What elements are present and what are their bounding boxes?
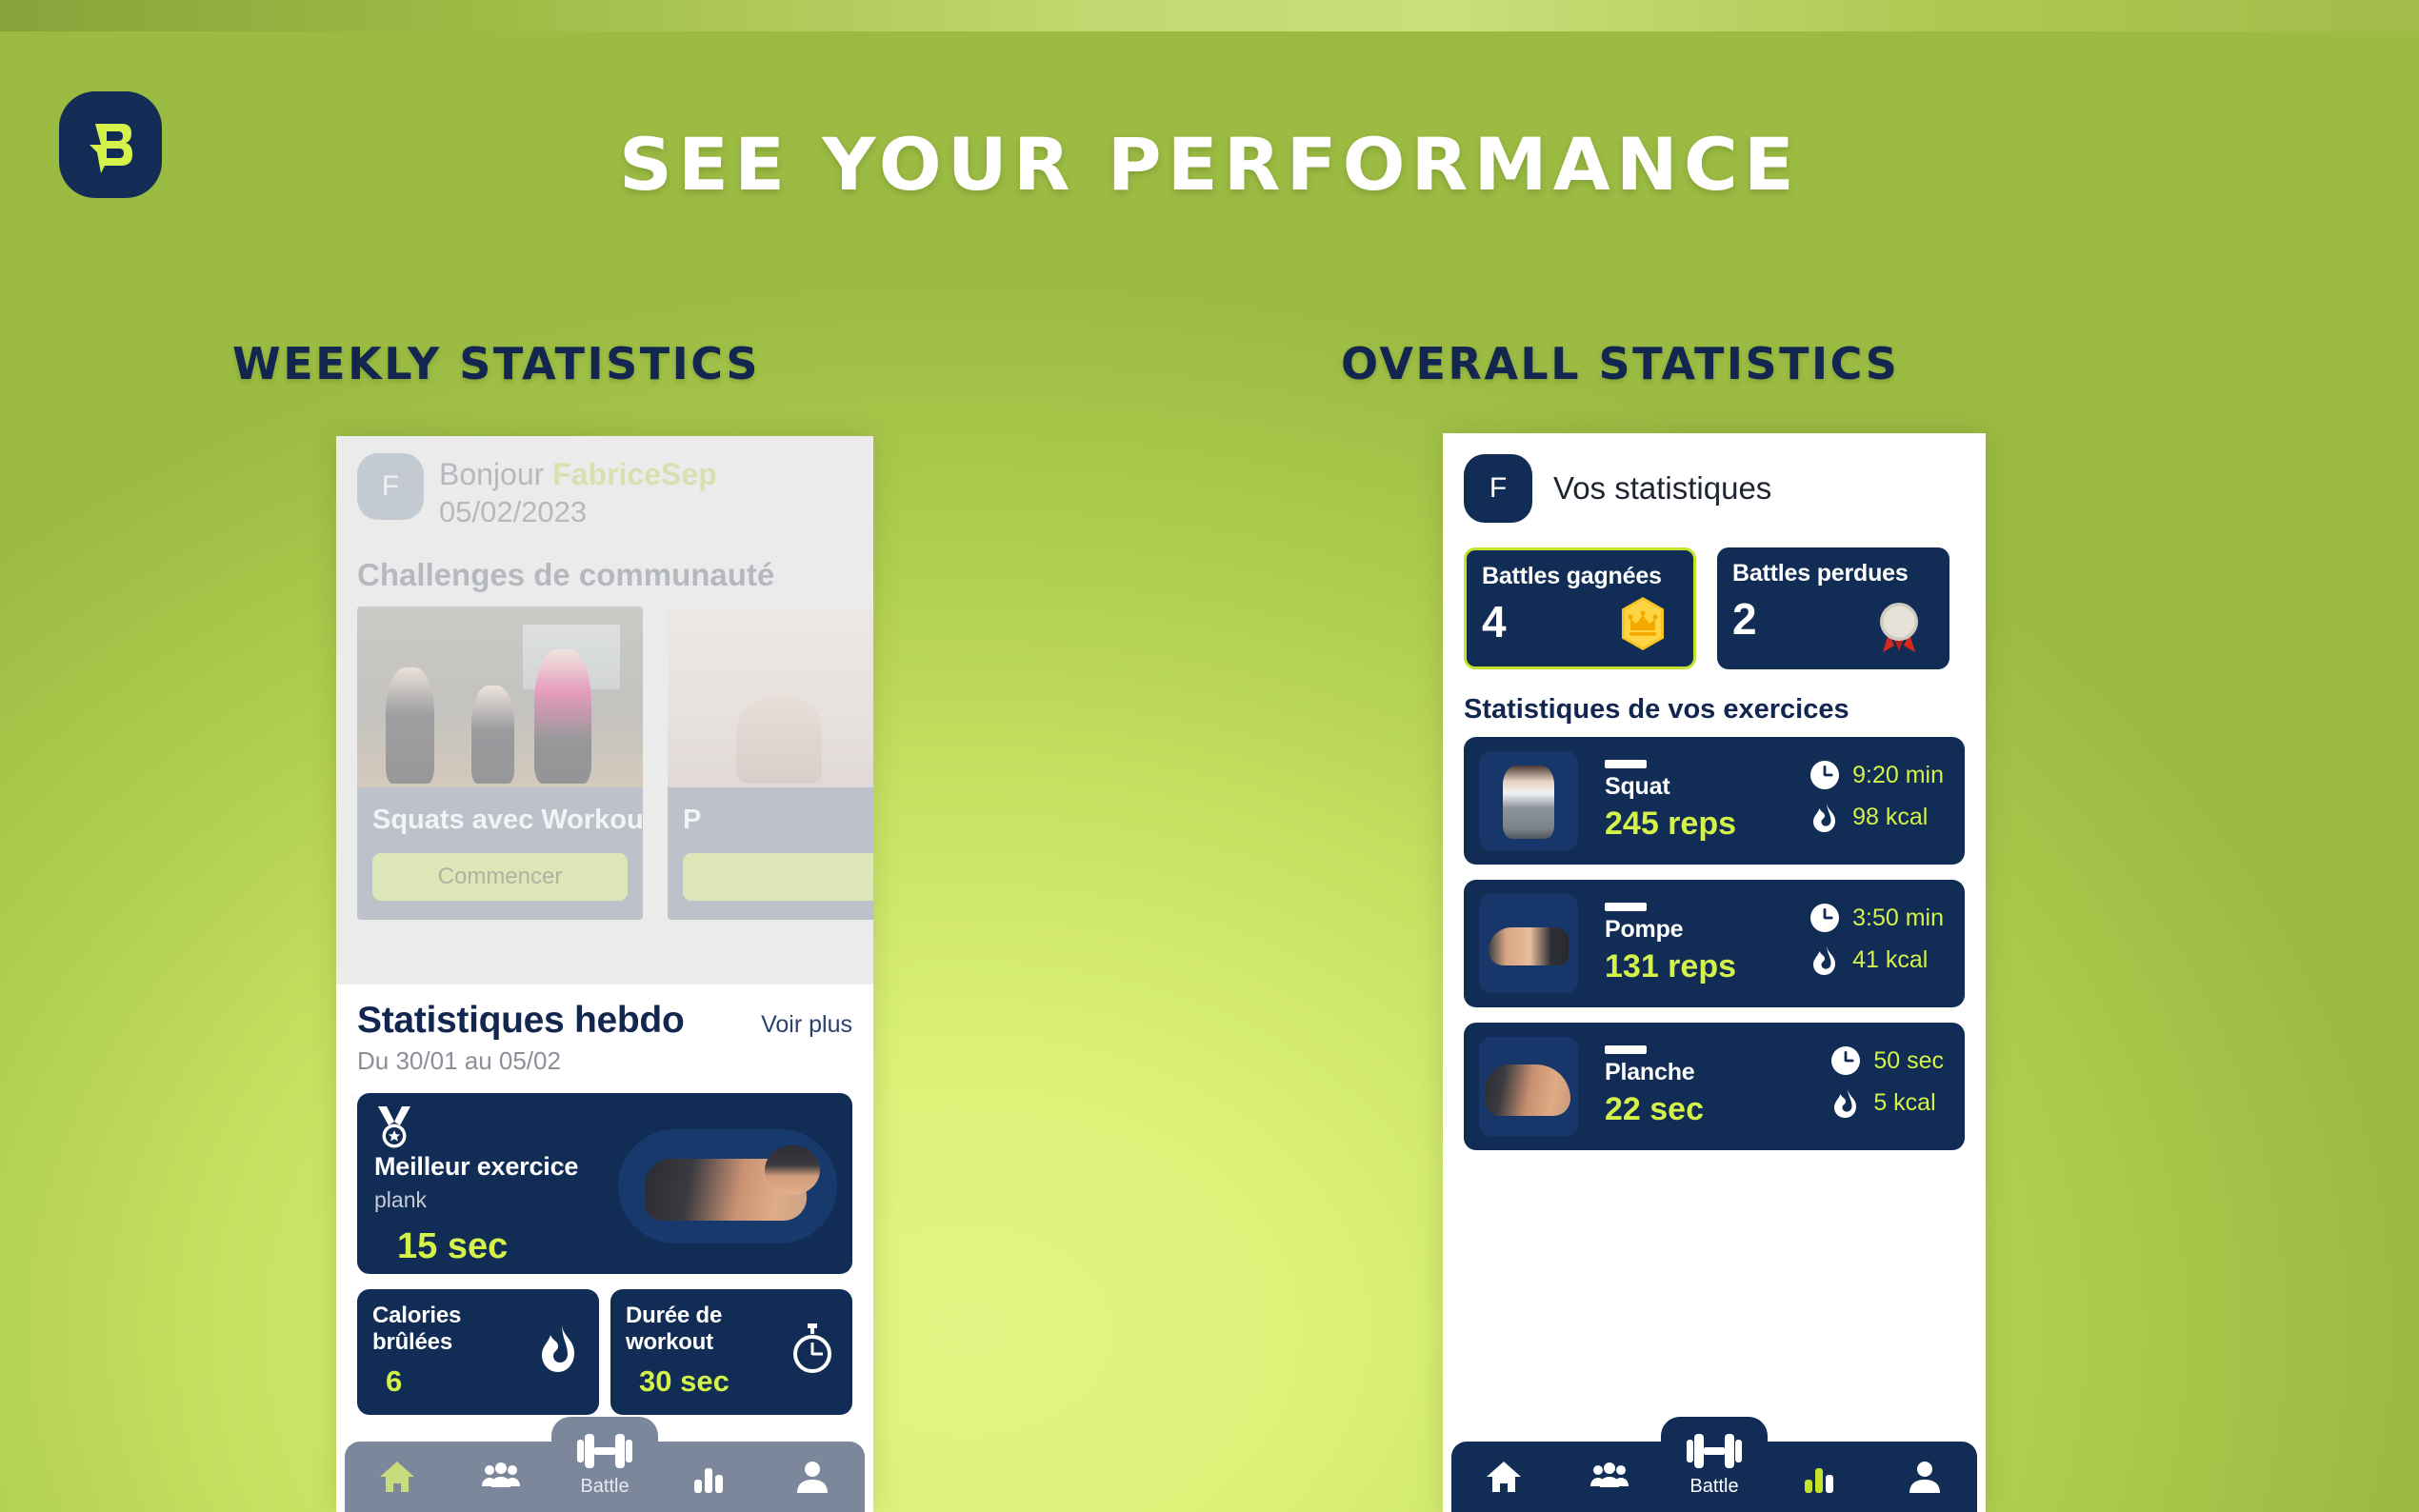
overall-statistics-phone: F Vos statistiques Battles gagnées 4: [1443, 433, 1986, 1512]
challenge-card[interactable]: Squats avec WorkoutBattle Commencer: [357, 607, 643, 920]
bar-chart-icon: [689, 1457, 729, 1497]
squat-thumbnail: [1479, 751, 1578, 850]
home-icon: [1484, 1457, 1524, 1497]
section-heading-weekly: WEEKLY STATISTICS: [232, 338, 760, 389]
top-color-band: [0, 0, 2419, 31]
see-more-link[interactable]: Voir plus: [761, 1011, 852, 1039]
battles-won-card[interactable]: Battles gagnées 4: [1464, 547, 1696, 669]
silver-medal-icon: [1869, 597, 1929, 656]
dumbbell-icon: [1685, 1430, 1744, 1472]
flame-icon: [1829, 1086, 1862, 1119]
exercise-calories: 5 kcal: [1873, 1089, 1935, 1117]
home-icon: [377, 1457, 417, 1497]
bottom-navigation[interactable]: Battle: [336, 1434, 873, 1512]
battles-lost-label: Battles perdues: [1732, 560, 1934, 587]
nav-battle-button[interactable]: Battle: [1661, 1417, 1768, 1512]
nav-home[interactable]: [1451, 1442, 1556, 1512]
challenge-photo: [668, 607, 873, 787]
nav-home[interactable]: [345, 1442, 449, 1512]
workout-duration-card[interactable]: Durée deworkout 30 sec: [610, 1289, 852, 1415]
nav-profile[interactable]: [1872, 1442, 1977, 1512]
nav-stats[interactable]: [657, 1442, 761, 1512]
exercise-row[interactable]: Squat 245 reps 9:20 min 98 kcal: [1464, 737, 1965, 865]
calories-label-line2: brûlées: [372, 1329, 452, 1355]
clock-icon: [1809, 902, 1841, 934]
nav-battle-button[interactable]: Battle: [551, 1417, 658, 1512]
person-icon: [1905, 1457, 1945, 1497]
battles-lost-card[interactable]: Battles perdues 2: [1717, 547, 1949, 669]
nav-community[interactable]: [449, 1442, 552, 1512]
dash-divider: [1605, 903, 1647, 911]
greeting-row: F Bonjour FabriceSep 05/02/2023: [357, 453, 852, 532]
header-row: F Vos statistiques: [1464, 454, 1965, 523]
dash-divider: [1605, 760, 1647, 768]
duration-label-line2: workout: [626, 1329, 713, 1355]
start-challenge-button[interactable]: [683, 853, 873, 901]
weekly-stats-section: Statistiques hebdo Voir plus Du 30/01 au…: [336, 985, 873, 1415]
exercise-calories: 98 kcal: [1852, 804, 1928, 831]
greeting-text: Bonjour FabriceSep: [439, 455, 717, 493]
battles-summary: Battles gagnées 4 Battles perdues 2: [1464, 547, 1965, 669]
exercise-time: 3:50 min: [1852, 905, 1944, 932]
challenge-card[interactable]: P: [668, 607, 873, 920]
flame-icon: [536, 1322, 582, 1375]
weekly-statistics-phone: F Bonjour FabriceSep 05/02/2023 Challeng…: [336, 436, 873, 1512]
dash-divider: [1605, 1045, 1647, 1054]
nav-profile[interactable]: [761, 1442, 865, 1512]
exercise-value: 131 reps: [1605, 948, 1809, 985]
people-icon: [1589, 1457, 1629, 1497]
exercise-value: 245 reps: [1605, 806, 1809, 843]
challenge-name: P: [683, 805, 873, 836]
challenge-name: Squats avec WorkoutBattle: [372, 805, 628, 836]
avatar[interactable]: F: [1464, 454, 1532, 523]
nav-battle-label: Battle: [580, 1476, 629, 1498]
nav-community[interactable]: [1556, 1442, 1661, 1512]
dimmed-home-section: F Bonjour FabriceSep 05/02/2023 Challeng…: [336, 436, 873, 985]
person-icon: [792, 1457, 832, 1497]
page-title: SEE YOUR PERFORMANCE: [0, 122, 2419, 207]
exercise-name: Planche: [1605, 1059, 1820, 1086]
nav-battle-label: Battle: [1689, 1476, 1738, 1498]
start-challenge-button[interactable]: Commencer: [372, 853, 628, 901]
exercise-row[interactable]: Planche 22 sec 50 sec 5 kcal: [1464, 1023, 1965, 1150]
screen-title: Vos statistiques: [1553, 470, 1771, 507]
poster-canvas: SEE YOUR PERFORMANCE WEEKLY STATISTICS O…: [0, 0, 2419, 1512]
challenge-carousel[interactable]: Squats avec WorkoutBattle Commencer P: [357, 607, 852, 920]
pushup-thumbnail: [1479, 894, 1578, 993]
clock-icon: [1829, 1044, 1862, 1077]
battles-won-label: Battles gagnées: [1482, 563, 1678, 590]
exercises-stats-title: Statistiques de vos exercices: [1464, 694, 1965, 726]
nav-stats[interactable]: [1767, 1442, 1871, 1512]
duration-label-line1: Durée de: [626, 1303, 722, 1328]
bottom-navigation[interactable]: Battle: [1443, 1434, 1986, 1512]
avatar[interactable]: F: [357, 453, 424, 520]
calories-label-line1: Calories: [372, 1303, 461, 1328]
people-icon: [481, 1457, 521, 1497]
flame-icon: [1809, 801, 1841, 833]
challenge-photo: [357, 607, 643, 787]
flame-icon: [1809, 944, 1841, 976]
weekly-stats-title: Statistiques hebdo: [357, 1000, 684, 1042]
weekly-date-range: Du 30/01 au 05/02: [357, 1046, 852, 1076]
calories-burned-card[interactable]: Caloriesbrûlées 6: [357, 1289, 599, 1415]
exercise-value: 22 sec: [1605, 1091, 1820, 1128]
dumbbell-icon: [575, 1430, 634, 1472]
exercise-row[interactable]: Pompe 131 reps 3:50 min 41 kcal: [1464, 880, 1965, 1007]
exercise-name: Pompe: [1605, 916, 1809, 944]
plank-thumbnail: [618, 1129, 837, 1243]
clock-icon: [1809, 759, 1841, 791]
bar-chart-icon: [1799, 1457, 1839, 1497]
current-date: 05/02/2023: [439, 493, 717, 531]
username: FabriceSep: [552, 457, 717, 491]
plank-thumbnail: [1479, 1037, 1578, 1136]
exercise-name: Squat: [1605, 773, 1809, 801]
greeting-prefix: Bonjour: [439, 457, 552, 491]
gold-crown-badge-icon: [1613, 594, 1672, 653]
exercise-time: 50 sec: [1873, 1047, 1944, 1075]
community-challenges-title: Challenges de communauté: [357, 557, 852, 593]
exercise-calories: 41 kcal: [1852, 946, 1928, 974]
medal-icon: [374, 1106, 414, 1148]
stopwatch-icon: [790, 1322, 835, 1375]
best-exercise-card[interactable]: Meilleur exercice plank 15 sec: [357, 1093, 852, 1274]
exercise-time: 9:20 min: [1852, 762, 1944, 789]
section-heading-overall: OVERALL STATISTICS: [1341, 338, 1899, 389]
